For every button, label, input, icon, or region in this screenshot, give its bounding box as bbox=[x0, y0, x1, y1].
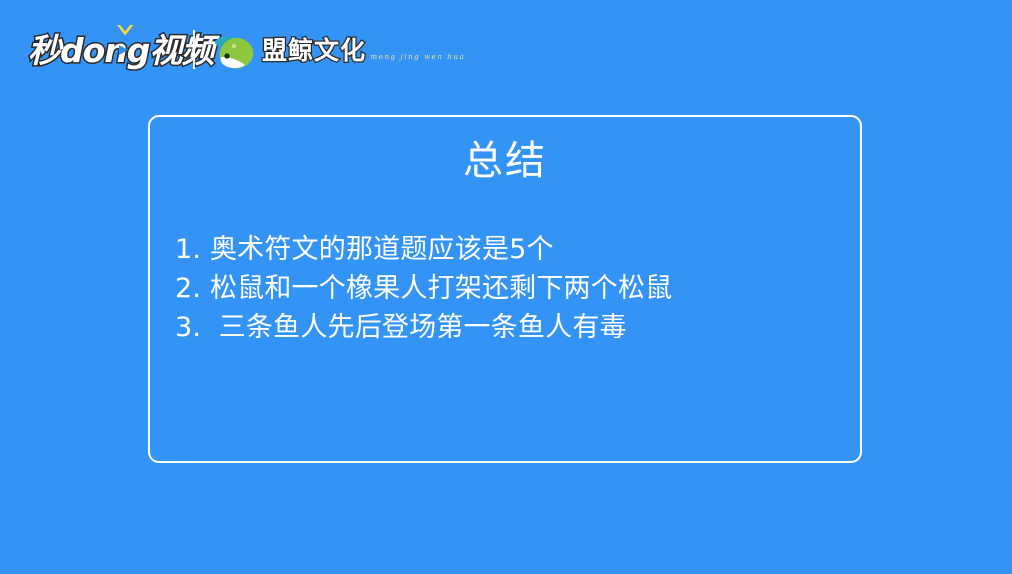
branding-header: 秒dong视频 盟鲸文化 meng bbox=[0, 0, 1012, 100]
summary-list: 1. 奥术符文的那道题应该是5个 2. 松鼠和一个橡果人打架还剩下两个松鼠 3.… bbox=[175, 230, 840, 347]
list-item: 2. 松鼠和一个橡果人打架还剩下两个松鼠 bbox=[175, 269, 840, 308]
secondary-logo: 盟鲸文化 meng jing wen hua bbox=[212, 27, 465, 77]
list-item: 1. 奥术符文的那道题应该是5个 bbox=[175, 230, 840, 269]
slide-canvas: 秒dong视频 盟鲸文化 meng bbox=[0, 0, 1012, 574]
play-triangle-icon bbox=[119, 45, 128, 55]
whale-icon bbox=[212, 32, 258, 72]
secondary-logo-pinyin: meng jing wen hua bbox=[370, 53, 465, 61]
secondary-logo-name: 盟鲸文化 bbox=[262, 36, 366, 65]
primary-logo-wordmark: 秒dong视频 bbox=[28, 34, 213, 67]
card-title: 总结 bbox=[150, 141, 860, 181]
summary-card: 总结 1. 奥术符文的那道题应该是5个 2. 松鼠和一个橡果人打架还剩下两个松鼠… bbox=[148, 115, 862, 463]
list-item: 3. 三条鱼人先后登场第一条鱼人有毒 bbox=[175, 308, 840, 347]
primary-logo-text-2: o bbox=[83, 31, 105, 70]
brand-divider bbox=[193, 30, 195, 69]
primary-logo-text-1: 秒d bbox=[28, 31, 83, 70]
secondary-logo-text: 盟鲸文化 meng jing wen hua bbox=[262, 38, 465, 64]
primary-logo: 秒dong视频 bbox=[28, 28, 213, 72]
primary-logo-o-letter: o bbox=[83, 34, 105, 67]
